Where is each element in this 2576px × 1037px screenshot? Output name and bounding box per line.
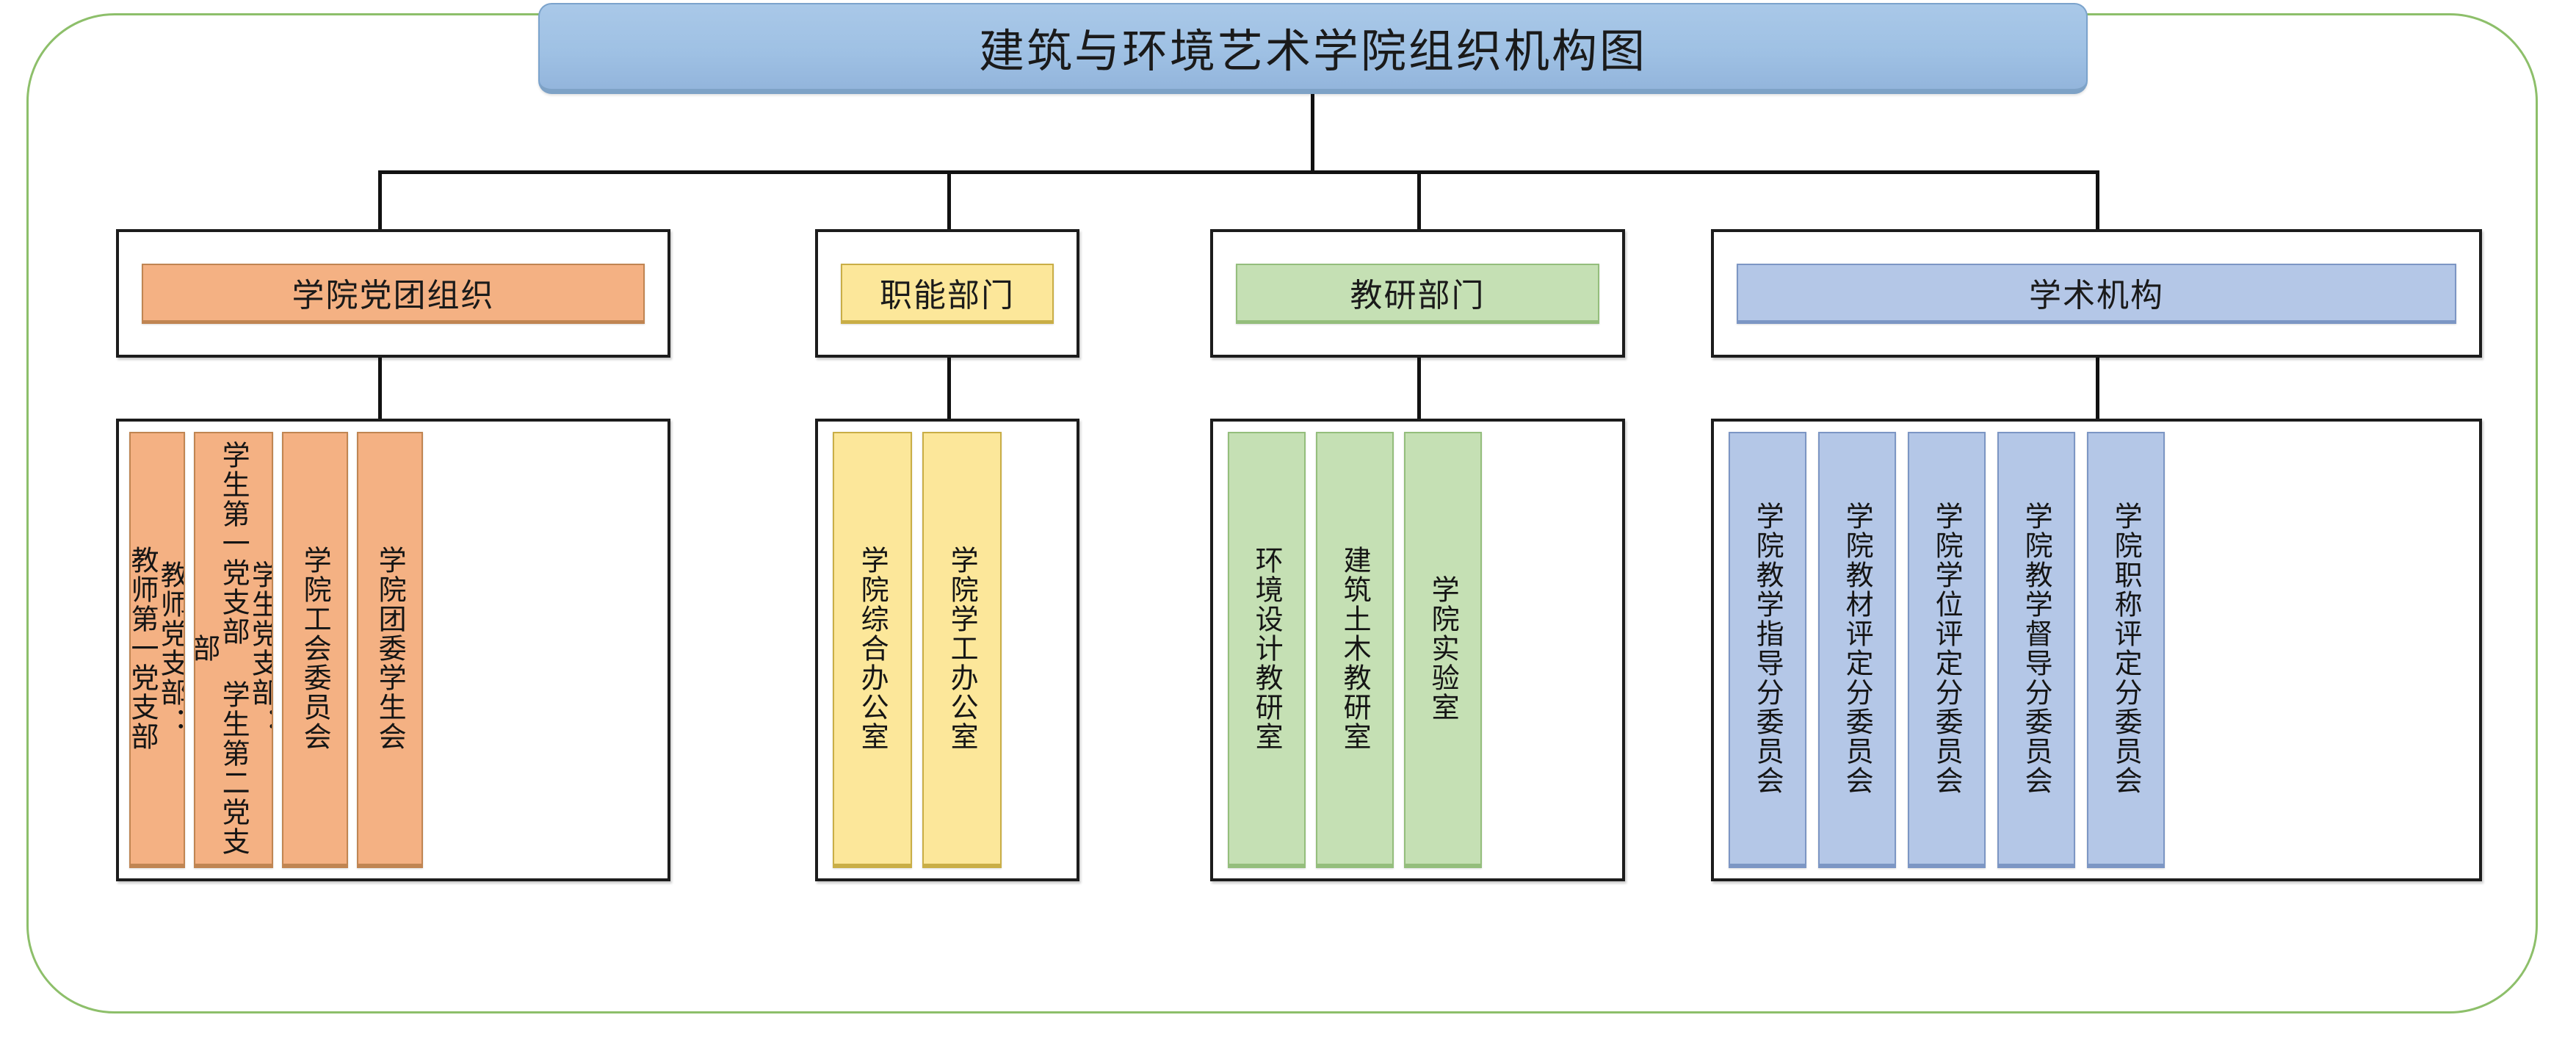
- leaf-environmental-design-office[interactable]: 环境设计教研室: [1228, 432, 1306, 868]
- leaf-row-academic: 学院教学指导分委员会 学院教材评定分委员会 学院学位评定分委员会 学院教学督导分…: [1729, 432, 2464, 868]
- connector-mid-3: [1417, 356, 1421, 419]
- page-title: 建筑与环境艺术学院组织机构图: [979, 14, 1647, 80]
- branch-label-functional: 职能部门: [880, 269, 1015, 316]
- leaf-label: 学院职称评定分委员会: [2111, 502, 2141, 795]
- leaf-label: 学院综合办公室: [858, 546, 887, 751]
- head-chip-functional: 职能部门: [841, 264, 1054, 324]
- leaf-row-party-league: 教师党支部： 教师第一党支部 学生党支部： 学生第一党支部 学生第二党支部 学院…: [129, 432, 657, 868]
- leaf-label: 建筑土木教研室: [1340, 546, 1370, 751]
- leaf-teaching-supervision-subcommittee[interactable]: 学院教学督导分委员会: [1997, 432, 2075, 868]
- root-node[interactable]: 建筑与环境艺术学院组织机构图: [538, 3, 2088, 94]
- leaf-title-evaluation-subcommittee[interactable]: 学院职称评定分委员会: [2087, 432, 2165, 868]
- branch-head-academic[interactable]: 学术机构: [1711, 229, 2482, 358]
- leaf-student-affairs-office[interactable]: 学院学工办公室: [922, 432, 1002, 868]
- connector-drop-1: [378, 170, 382, 231]
- leaf-label: 学院团委学生会: [375, 546, 405, 751]
- leaf-college-laboratory[interactable]: 学院实验室: [1404, 432, 1482, 868]
- leaf-label: 教师党支部： 教师第一党支部: [129, 546, 185, 751]
- branch-head-teaching-research[interactable]: 教研部门: [1210, 229, 1625, 358]
- leaf-textbook-evaluation-subcommittee[interactable]: 学院教材评定分委员会: [1818, 432, 1896, 868]
- leaf-general-office[interactable]: 学院综合办公室: [833, 432, 912, 868]
- branch-head-functional[interactable]: 职能部门: [815, 229, 1079, 358]
- head-chip-academic: 学术机构: [1737, 264, 2456, 324]
- connector-trunk: [1311, 94, 1314, 173]
- connector-bus: [378, 170, 2099, 174]
- connector-mid-2: [947, 356, 951, 419]
- leaf-student-party-branch[interactable]: 学生党支部： 学生第一党支部 学生第二党支部: [194, 432, 273, 868]
- leaf-architecture-civil-office[interactable]: 建筑土木教研室: [1316, 432, 1394, 868]
- leaf-teacher-party-branch[interactable]: 教师党支部： 教师第一党支部: [129, 432, 185, 868]
- connector-mid-1: [378, 356, 382, 419]
- leaf-label: 环境设计教研室: [1252, 546, 1281, 751]
- connector-mid-4: [2096, 356, 2099, 419]
- branch-label-party-league: 学院党团组织: [292, 269, 495, 316]
- leaf-label: 学院教学指导分委员会: [1753, 502, 1782, 795]
- leaf-degree-evaluation-subcommittee[interactable]: 学院学位评定分委员会: [1908, 432, 1986, 868]
- branch-label-teaching-research: 教研部门: [1350, 269, 1486, 316]
- connector-drop-4: [2096, 170, 2099, 231]
- connector-drop-2: [947, 170, 951, 231]
- leaf-youth-league-student-union[interactable]: 学院团委学生会: [357, 432, 423, 868]
- leaf-label: 学院实验室: [1428, 575, 1458, 722]
- branch-label-academic: 学术机构: [2029, 269, 2164, 316]
- leaf-row-functional: 学院综合办公室 学院学工办公室: [833, 432, 1062, 868]
- leaf-label: 学院学位评定分委员会: [1932, 502, 1961, 795]
- leaf-row-teaching-research: 环境设计教研室 建筑土木教研室 学院实验室: [1228, 432, 1607, 868]
- head-chip-party-league: 学院党团组织: [142, 264, 645, 324]
- leaf-label: 学院教材评定分委员会: [1842, 502, 1872, 795]
- connector-drop-3: [1417, 170, 1421, 231]
- branch-head-party-league[interactable]: 学院党团组织: [116, 229, 670, 358]
- leaf-teaching-guidance-subcommittee[interactable]: 学院教学指导分委员会: [1729, 432, 1806, 868]
- leaf-label: 学生党支部： 学生第一党支部 学生第二党支部: [194, 433, 273, 864]
- leaf-label: 学院学工办公室: [947, 546, 977, 751]
- leaf-label: 学院教学督导分委员会: [2022, 502, 2051, 795]
- leaf-label: 学院工会委员会: [300, 546, 330, 751]
- head-chip-teaching-research: 教研部门: [1236, 264, 1599, 324]
- leaf-union-committee[interactable]: 学院工会委员会: [282, 432, 348, 868]
